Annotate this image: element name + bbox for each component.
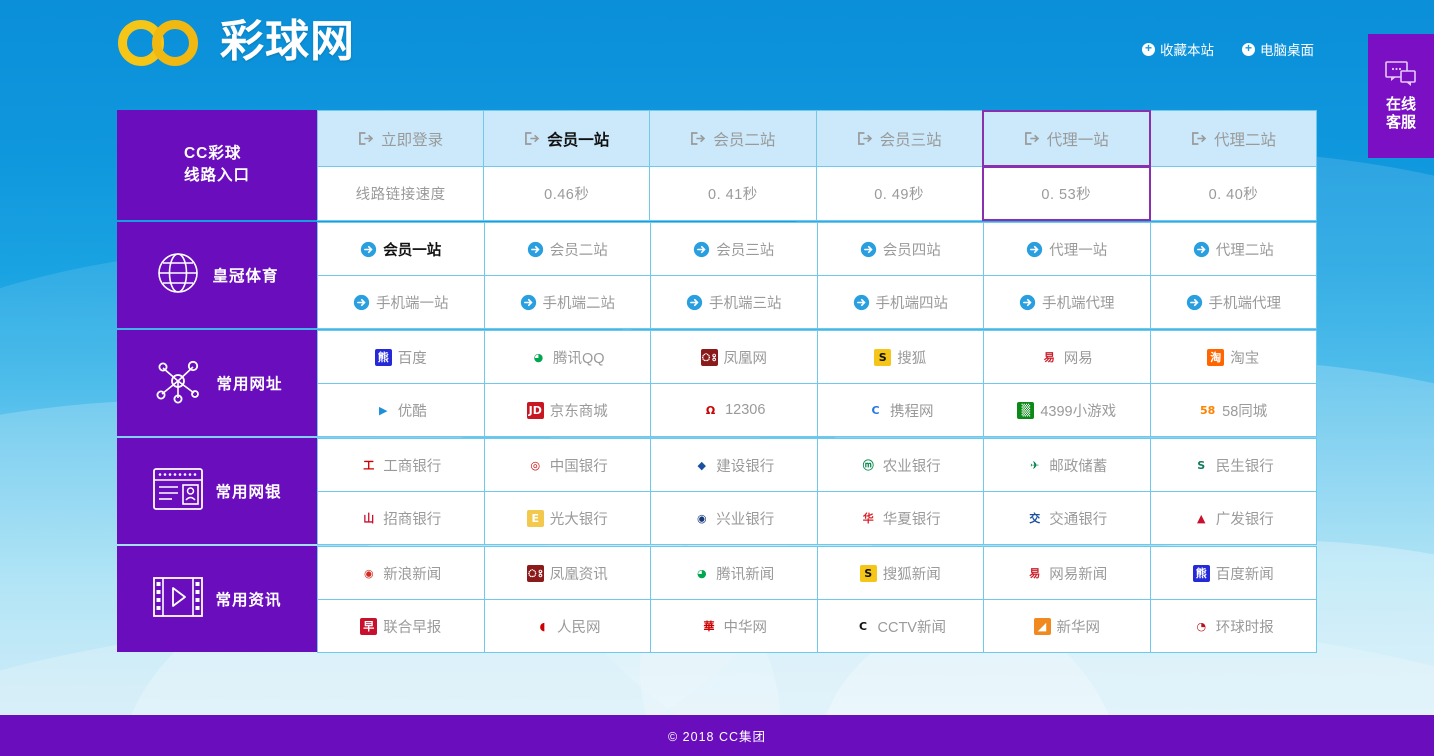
cell-会员四站[interactable]: 会员四站: [817, 222, 985, 276]
ccb-icon: ◆: [693, 457, 710, 474]
cell-京东商城[interactable]: JD京东商城: [484, 383, 652, 437]
cell-label: 新浪新闻: [383, 563, 441, 584]
cell-label: 搜狐新闻: [883, 563, 941, 584]
row-cells: 熊百度◕腾讯QQঃ凤凰网S搜狐易网易淘淘宝▶优酷JD京东商城Ω12306C携程网…: [317, 330, 1317, 436]
circle-arrow-icon: [1193, 241, 1210, 258]
row-cells: 工工商银行◎中国银行◆建设银行ⓜ农业银行✈邮政储蓄S民生银行山招商银行E光大银行…: [317, 438, 1317, 544]
4399-icon: ▒: [1017, 402, 1034, 419]
circle-arrow-icon: [693, 241, 710, 258]
cell-line: 手机端一站手机端二站手机端三站手机端四站手机端代理手机端代理: [317, 275, 1317, 328]
globe-icon: [155, 250, 201, 296]
cell-4399小游戏[interactable]: ▒4399小游戏: [983, 383, 1151, 437]
cell-0.-40秒[interactable]: 0. 40秒: [1150, 166, 1317, 221]
cell-农业银行[interactable]: ⓜ农业银行: [817, 438, 985, 492]
ifeng-icon: ঃ: [701, 349, 718, 366]
abc-icon: ⓜ: [860, 457, 877, 474]
global-icon: ◔: [1193, 618, 1210, 635]
cell-会员三站[interactable]: 会员三站: [650, 222, 818, 276]
row-label-news: 常用资讯: [117, 546, 317, 652]
cell-线路链接速度[interactable]: 线路链接速度: [317, 166, 484, 221]
cctv-icon: C: [855, 618, 872, 635]
cell-联合早报[interactable]: 早联合早报: [317, 599, 485, 653]
circle-arrow-icon: [1026, 241, 1043, 258]
cib-icon: ◉: [693, 510, 710, 527]
cell-label: 凤凰资讯: [550, 563, 608, 584]
zaobao-icon: 早: [360, 618, 377, 635]
cell-会员三站[interactable]: 会员三站: [816, 110, 983, 167]
cell-label: 广发银行: [1216, 508, 1274, 529]
globe-icon: [155, 250, 201, 301]
film-play-icon: [152, 576, 204, 623]
cell-label: 腾讯新闻: [716, 563, 774, 584]
cell-label: 代理二站: [1216, 239, 1274, 260]
cell-人民网[interactable]: ◖人民网: [484, 599, 652, 653]
qq-icon: ◕: [693, 565, 710, 582]
cell-line: 工工商银行◎中国银行◆建设银行ⓜ农业银行✈邮政储蓄S民生银行: [317, 438, 1317, 491]
cell-代理二站[interactable]: 代理二站: [1150, 110, 1317, 167]
cell-label: 0. 40秒: [1209, 183, 1259, 204]
cell-腾讯新闻[interactable]: ◕腾讯新闻: [650, 546, 818, 600]
cell-广发银行[interactable]: ▲广发银行: [1150, 491, 1318, 545]
row-label-text: 皇冠体育: [212, 264, 278, 286]
bank-window-icon: [152, 467, 204, 516]
cell-label: 工商银行: [383, 455, 441, 476]
cell-label: 4399小游戏: [1040, 400, 1116, 421]
bookmark-site-label: 收藏本站: [1160, 39, 1214, 59]
logo-text: 彩球网: [220, 20, 355, 64]
cell-label: 立即登录: [381, 128, 443, 150]
cell-会员一站[interactable]: 会员一站: [317, 222, 485, 276]
cell-0.-41秒[interactable]: 0. 41秒: [649, 166, 816, 221]
enter-icon: [857, 130, 874, 147]
cell-label: 0. 49秒: [874, 183, 924, 204]
board-row-websites: 常用网址熊百度◕腾讯QQঃ凤凰网S搜狐易网易淘淘宝▶优酷JD京东商城Ω12306…: [117, 330, 1317, 436]
ceb-icon: E: [527, 510, 544, 527]
plus-circle-icon: +: [1242, 43, 1255, 56]
cell-label: 手机端四站: [876, 292, 949, 313]
cell-label: 代理二站: [1214, 128, 1276, 150]
cell-label: 腾讯QQ: [553, 347, 605, 368]
cell-58同城[interactable]: 5858同城: [1150, 383, 1318, 437]
cell-邮政储蓄[interactable]: ✈邮政储蓄: [983, 438, 1151, 492]
cell-label: 手机端代理: [1209, 292, 1282, 313]
cell-label: 会员一站: [547, 128, 609, 150]
cell-label: 会员四站: [883, 239, 941, 260]
row-cells: 会员一站会员二站会员三站会员四站代理一站代理二站手机端一站手机端二站手机端三站手…: [317, 222, 1317, 328]
row-label-banks: 常用网银: [117, 438, 317, 544]
cell-兴业银行[interactable]: ◉兴业银行: [650, 491, 818, 545]
cell-腾讯QQ[interactable]: ◕腾讯QQ: [484, 330, 652, 384]
cell-会员二站[interactable]: 会员二站: [649, 110, 816, 167]
cell-label: 会员二站: [550, 239, 608, 260]
cell-光大银行[interactable]: E光大银行: [484, 491, 652, 545]
cell-0.-49秒[interactable]: 0. 49秒: [816, 166, 983, 221]
cell-百度[interactable]: 熊百度: [317, 330, 485, 384]
enter-icon: [1024, 130, 1041, 147]
icbc-icon: 工: [360, 457, 377, 474]
enter-icon: [358, 130, 375, 147]
cell-label: 会员三站: [716, 239, 774, 260]
china-icon: 華: [701, 618, 718, 635]
cell-label: 凤凰网: [724, 347, 768, 368]
cell-代理一站[interactable]: 代理一站: [982, 110, 1151, 167]
circle-arrow-icon: [527, 241, 544, 258]
row-label-text: 常用网址: [216, 372, 282, 394]
cell-label: 0. 53秒: [1041, 183, 1091, 204]
row-cells: 立即登录会员一站会员二站会员三站代理一站代理二站线路链接速度0.46秒0. 41…: [317, 110, 1317, 220]
row-label-websites: 常用网址: [117, 330, 317, 436]
cell-line: 线路链接速度0.46秒0. 41秒0. 49秒0. 53秒0. 40秒: [317, 166, 1317, 220]
cell-label: 网易: [1064, 347, 1093, 368]
cell-line: ◉新浪新闻ঃ凤凰资讯◕腾讯新闻S搜狐新闻易网易新闻熊百度新闻: [317, 546, 1317, 599]
cell-中国银行[interactable]: ◎中国银行: [484, 438, 652, 492]
cell-label: 代理一站: [1047, 128, 1109, 150]
sohu-icon: S: [874, 349, 891, 366]
cell-手机端二站[interactable]: 手机端二站: [484, 275, 652, 329]
train-icon: Ω: [702, 402, 719, 419]
plus-circle-icon: +: [1142, 43, 1155, 56]
cell-label: 优酷: [398, 400, 427, 421]
row-label-text: 常用资讯: [215, 588, 281, 610]
hxb-icon: 华: [860, 510, 877, 527]
circle-arrow-icon: [353, 294, 370, 311]
row-label-lines: CC彩球线路入口: [117, 110, 317, 220]
cell-网易[interactable]: 易网易: [983, 330, 1151, 384]
cell-代理一站[interactable]: 代理一站: [983, 222, 1151, 276]
cell-12306[interactable]: Ω12306: [650, 383, 818, 437]
desktop-shortcut-link[interactable]: + 电脑桌面: [1242, 39, 1314, 59]
cell-label: 搜狐: [897, 347, 926, 368]
58-icon: 58: [1199, 402, 1216, 419]
cell-label: 民生银行: [1216, 455, 1274, 476]
psbc-icon: ✈: [1026, 457, 1043, 474]
cell-label: 京东商城: [550, 400, 608, 421]
cell-label: 百度新闻: [1216, 563, 1274, 584]
row-label-sports: 皇冠体育: [117, 222, 317, 328]
network-nodes-icon: [151, 354, 205, 413]
row-label-text: 常用网银: [215, 480, 281, 502]
link-board: CC彩球线路入口立即登录会员一站会员二站会员三站代理一站代理二站线路链接速度0.…: [117, 110, 1317, 654]
board-row-news: 常用资讯◉新浪新闻ঃ凤凰资讯◕腾讯新闻S搜狐新闻易网易新闻熊百度新闻早联合早报◖…: [117, 546, 1317, 652]
cell-label: 联合早报: [383, 616, 441, 637]
cell-手机端代理[interactable]: 手机端代理: [983, 275, 1151, 329]
cell-label: 环球时报: [1216, 616, 1274, 637]
cell-label: 中国银行: [550, 455, 608, 476]
cgb-icon: ▲: [1193, 510, 1210, 527]
cell-label: 会员二站: [713, 128, 775, 150]
cell-label: 建设银行: [716, 455, 774, 476]
cell-新华网[interactable]: ◢新华网: [983, 599, 1151, 653]
cell-手机端一站[interactable]: 手机端一站: [317, 275, 485, 329]
cell-搜狐[interactable]: S搜狐: [817, 330, 985, 384]
site-logo[interactable]: 彩球网: [118, 16, 355, 68]
row-cells: ◉新浪新闻ঃ凤凰资讯◕腾讯新闻S搜狐新闻易网易新闻熊百度新闻早联合早报◖人民网華…: [317, 546, 1317, 652]
desktop-shortcut-label: 电脑桌面: [1260, 39, 1314, 59]
sina-icon: ◉: [360, 565, 377, 582]
cell-优酷[interactable]: ▶优酷: [317, 383, 485, 437]
cell-line: ▶优酷JD京东商城Ω12306C携程网▒4399小游戏5858同城: [317, 383, 1317, 436]
youku-icon: ▶: [375, 402, 392, 419]
cell-label: 线路链接速度: [356, 183, 446, 204]
cell-label: CCTV新闻: [878, 616, 946, 637]
circle-arrow-icon: [853, 294, 870, 311]
cell-label: 交通银行: [1049, 508, 1107, 529]
board-row-banks: 常用网银工工商银行◎中国银行◆建设银行ⓜ农业银行✈邮政储蓄S民生银行山招商银行E…: [117, 438, 1317, 544]
network-nodes-icon: [151, 354, 205, 408]
cell-手机端代理[interactable]: 手机端代理: [1150, 275, 1318, 329]
cell-label: 邮政储蓄: [1049, 455, 1107, 476]
cmb-icon: 山: [360, 510, 377, 527]
cell-手机端三站[interactable]: 手机端三站: [650, 275, 818, 329]
enter-icon: [690, 130, 707, 147]
cell-label: 中华网: [724, 616, 768, 637]
cell-label: 网易新闻: [1049, 563, 1107, 584]
online-service-label: 在线 客服: [1386, 96, 1416, 132]
board-row-lines: CC彩球线路入口立即登录会员一站会员二站会员三站代理一站代理二站线路链接速度0.…: [117, 110, 1317, 220]
site-header: 彩球网 + 收藏本站 + 电脑桌面 在线: [0, 0, 1434, 108]
ctrip-icon: C: [867, 402, 884, 419]
cmbc-icon: S: [1193, 457, 1210, 474]
cell-label: 手机端三站: [709, 292, 782, 313]
enter-icon: [1191, 130, 1208, 147]
bookmark-site-link[interactable]: + 收藏本站: [1142, 39, 1214, 59]
cell-label: 兴业银行: [716, 508, 774, 529]
cell-会员二站[interactable]: 会员二站: [484, 222, 652, 276]
cell-搜狐新闻[interactable]: S搜狐新闻: [817, 546, 985, 600]
site-footer: © 2018 CC集团: [0, 715, 1434, 756]
cell-网易新闻[interactable]: 易网易新闻: [983, 546, 1151, 600]
cell-label: 百度: [398, 347, 427, 368]
circle-arrow-icon: [1186, 294, 1203, 311]
cell-CCTV新闻[interactable]: CCCTV新闻: [817, 599, 985, 653]
cell-label: 手机端二站: [543, 292, 616, 313]
circle-arrow-icon: [520, 294, 537, 311]
cell-会员一站[interactable]: 会员一站: [483, 110, 650, 167]
netease-icon: 易: [1026, 565, 1043, 582]
cell-淘宝[interactable]: 淘淘宝: [1150, 330, 1318, 384]
chat-bubbles-icon: [1384, 60, 1418, 90]
cell-label: 新华网: [1057, 616, 1101, 637]
cell-line: 立即登录会员一站会员二站会员三站代理一站代理二站: [317, 110, 1317, 166]
cell-label: 手机端代理: [1042, 292, 1115, 313]
cell-凤凰资讯[interactable]: ঃ凤凰资讯: [484, 546, 652, 600]
board-row-sports: 皇冠体育会员一站会员二站会员三站会员四站代理一站代理二站手机端一站手机端二站手机…: [117, 222, 1317, 328]
cell-label: 0.46秒: [544, 183, 589, 204]
cell-line: 会员一站会员二站会员三站会员四站代理一站代理二站: [317, 222, 1317, 275]
cell-交通银行[interactable]: 交交通银行: [983, 491, 1151, 545]
cell-工商银行[interactable]: 工工商银行: [317, 438, 485, 492]
cell-百度新闻[interactable]: 熊百度新闻: [1150, 546, 1318, 600]
row-label-text: CC彩球线路入口: [184, 143, 250, 187]
netease-icon: 易: [1041, 349, 1058, 366]
cell-label: 招商银行: [383, 508, 441, 529]
infinity-rings-icon: [118, 16, 214, 68]
online-service-button[interactable]: 在线 客服: [1368, 34, 1434, 158]
circle-arrow-icon: [860, 241, 877, 258]
cell-立即登录[interactable]: 立即登录: [317, 110, 484, 167]
cell-label: 会员三站: [880, 128, 942, 150]
circle-arrow-icon: [1019, 294, 1036, 311]
cell-凤凰网[interactable]: ঃ凤凰网: [650, 330, 818, 384]
cell-建设银行[interactable]: ◆建设银行: [650, 438, 818, 492]
copyright-text: © 2018 CC集团: [668, 726, 766, 745]
cell-line: 山招商银行E光大银行◉兴业银行华华夏银行交交通银行▲广发银行: [317, 491, 1317, 544]
cell-新浪新闻[interactable]: ◉新浪新闻: [317, 546, 485, 600]
cell-line: 早联合早报◖人民网華中华网CCCTV新闻◢新华网◔环球时报: [317, 599, 1317, 652]
bank-window-icon: [152, 467, 204, 511]
header-links: + 收藏本站 + 电脑桌面: [1142, 39, 1314, 59]
cell-label: 0. 41秒: [708, 183, 758, 204]
sohu-icon: S: [860, 565, 877, 582]
cell-招商银行[interactable]: 山招商银行: [317, 491, 485, 545]
cell-携程网[interactable]: C携程网: [817, 383, 985, 437]
taobao-icon: 淘: [1207, 349, 1224, 366]
circle-arrow-icon: [686, 294, 703, 311]
cell-民生银行[interactable]: S民生银行: [1150, 438, 1318, 492]
baidu-icon: 熊: [375, 349, 392, 366]
ifeng-icon: ঃ: [527, 565, 544, 582]
boc-icon: ◎: [527, 457, 544, 474]
cell-环球时报[interactable]: ◔环球时报: [1150, 599, 1318, 653]
cell-label: 人民网: [557, 616, 601, 637]
cell-line: 熊百度◕腾讯QQঃ凤凰网S搜狐易网易淘淘宝: [317, 330, 1317, 383]
cell-label: 华夏银行: [883, 508, 941, 529]
bocom-icon: 交: [1026, 510, 1043, 527]
baidu-icon: 熊: [1193, 565, 1210, 582]
jd-icon: JD: [527, 402, 544, 419]
qq-icon: ◕: [530, 349, 547, 366]
xinhua-icon: ◢: [1034, 618, 1051, 635]
cell-label: 58同城: [1222, 400, 1267, 421]
enter-icon: [524, 130, 541, 147]
cell-label: 手机端一站: [376, 292, 449, 313]
page-root: 彩球网 + 收藏本站 + 电脑桌面 在线: [0, 0, 1434, 756]
cell-代理二站[interactable]: 代理二站: [1150, 222, 1318, 276]
people-icon: ◖: [534, 618, 551, 635]
cell-label: 携程网: [890, 400, 934, 421]
cell-中华网[interactable]: 華中华网: [650, 599, 818, 653]
cell-label: 会员一站: [383, 239, 441, 260]
cell-label: 农业银行: [883, 455, 941, 476]
cell-0.-53秒[interactable]: 0. 53秒: [982, 166, 1151, 221]
cell-0.46秒[interactable]: 0.46秒: [483, 166, 650, 221]
circle-arrow-icon: [360, 241, 377, 258]
cell-label: 淘宝: [1230, 347, 1259, 368]
film-play-icon: [152, 576, 204, 618]
cell-label: 12306: [725, 402, 765, 418]
cell-华夏银行[interactable]: 华华夏银行: [817, 491, 985, 545]
cell-手机端四站[interactable]: 手机端四站: [817, 275, 985, 329]
cell-label: 代理一站: [1049, 239, 1107, 260]
cell-label: 光大银行: [550, 508, 608, 529]
